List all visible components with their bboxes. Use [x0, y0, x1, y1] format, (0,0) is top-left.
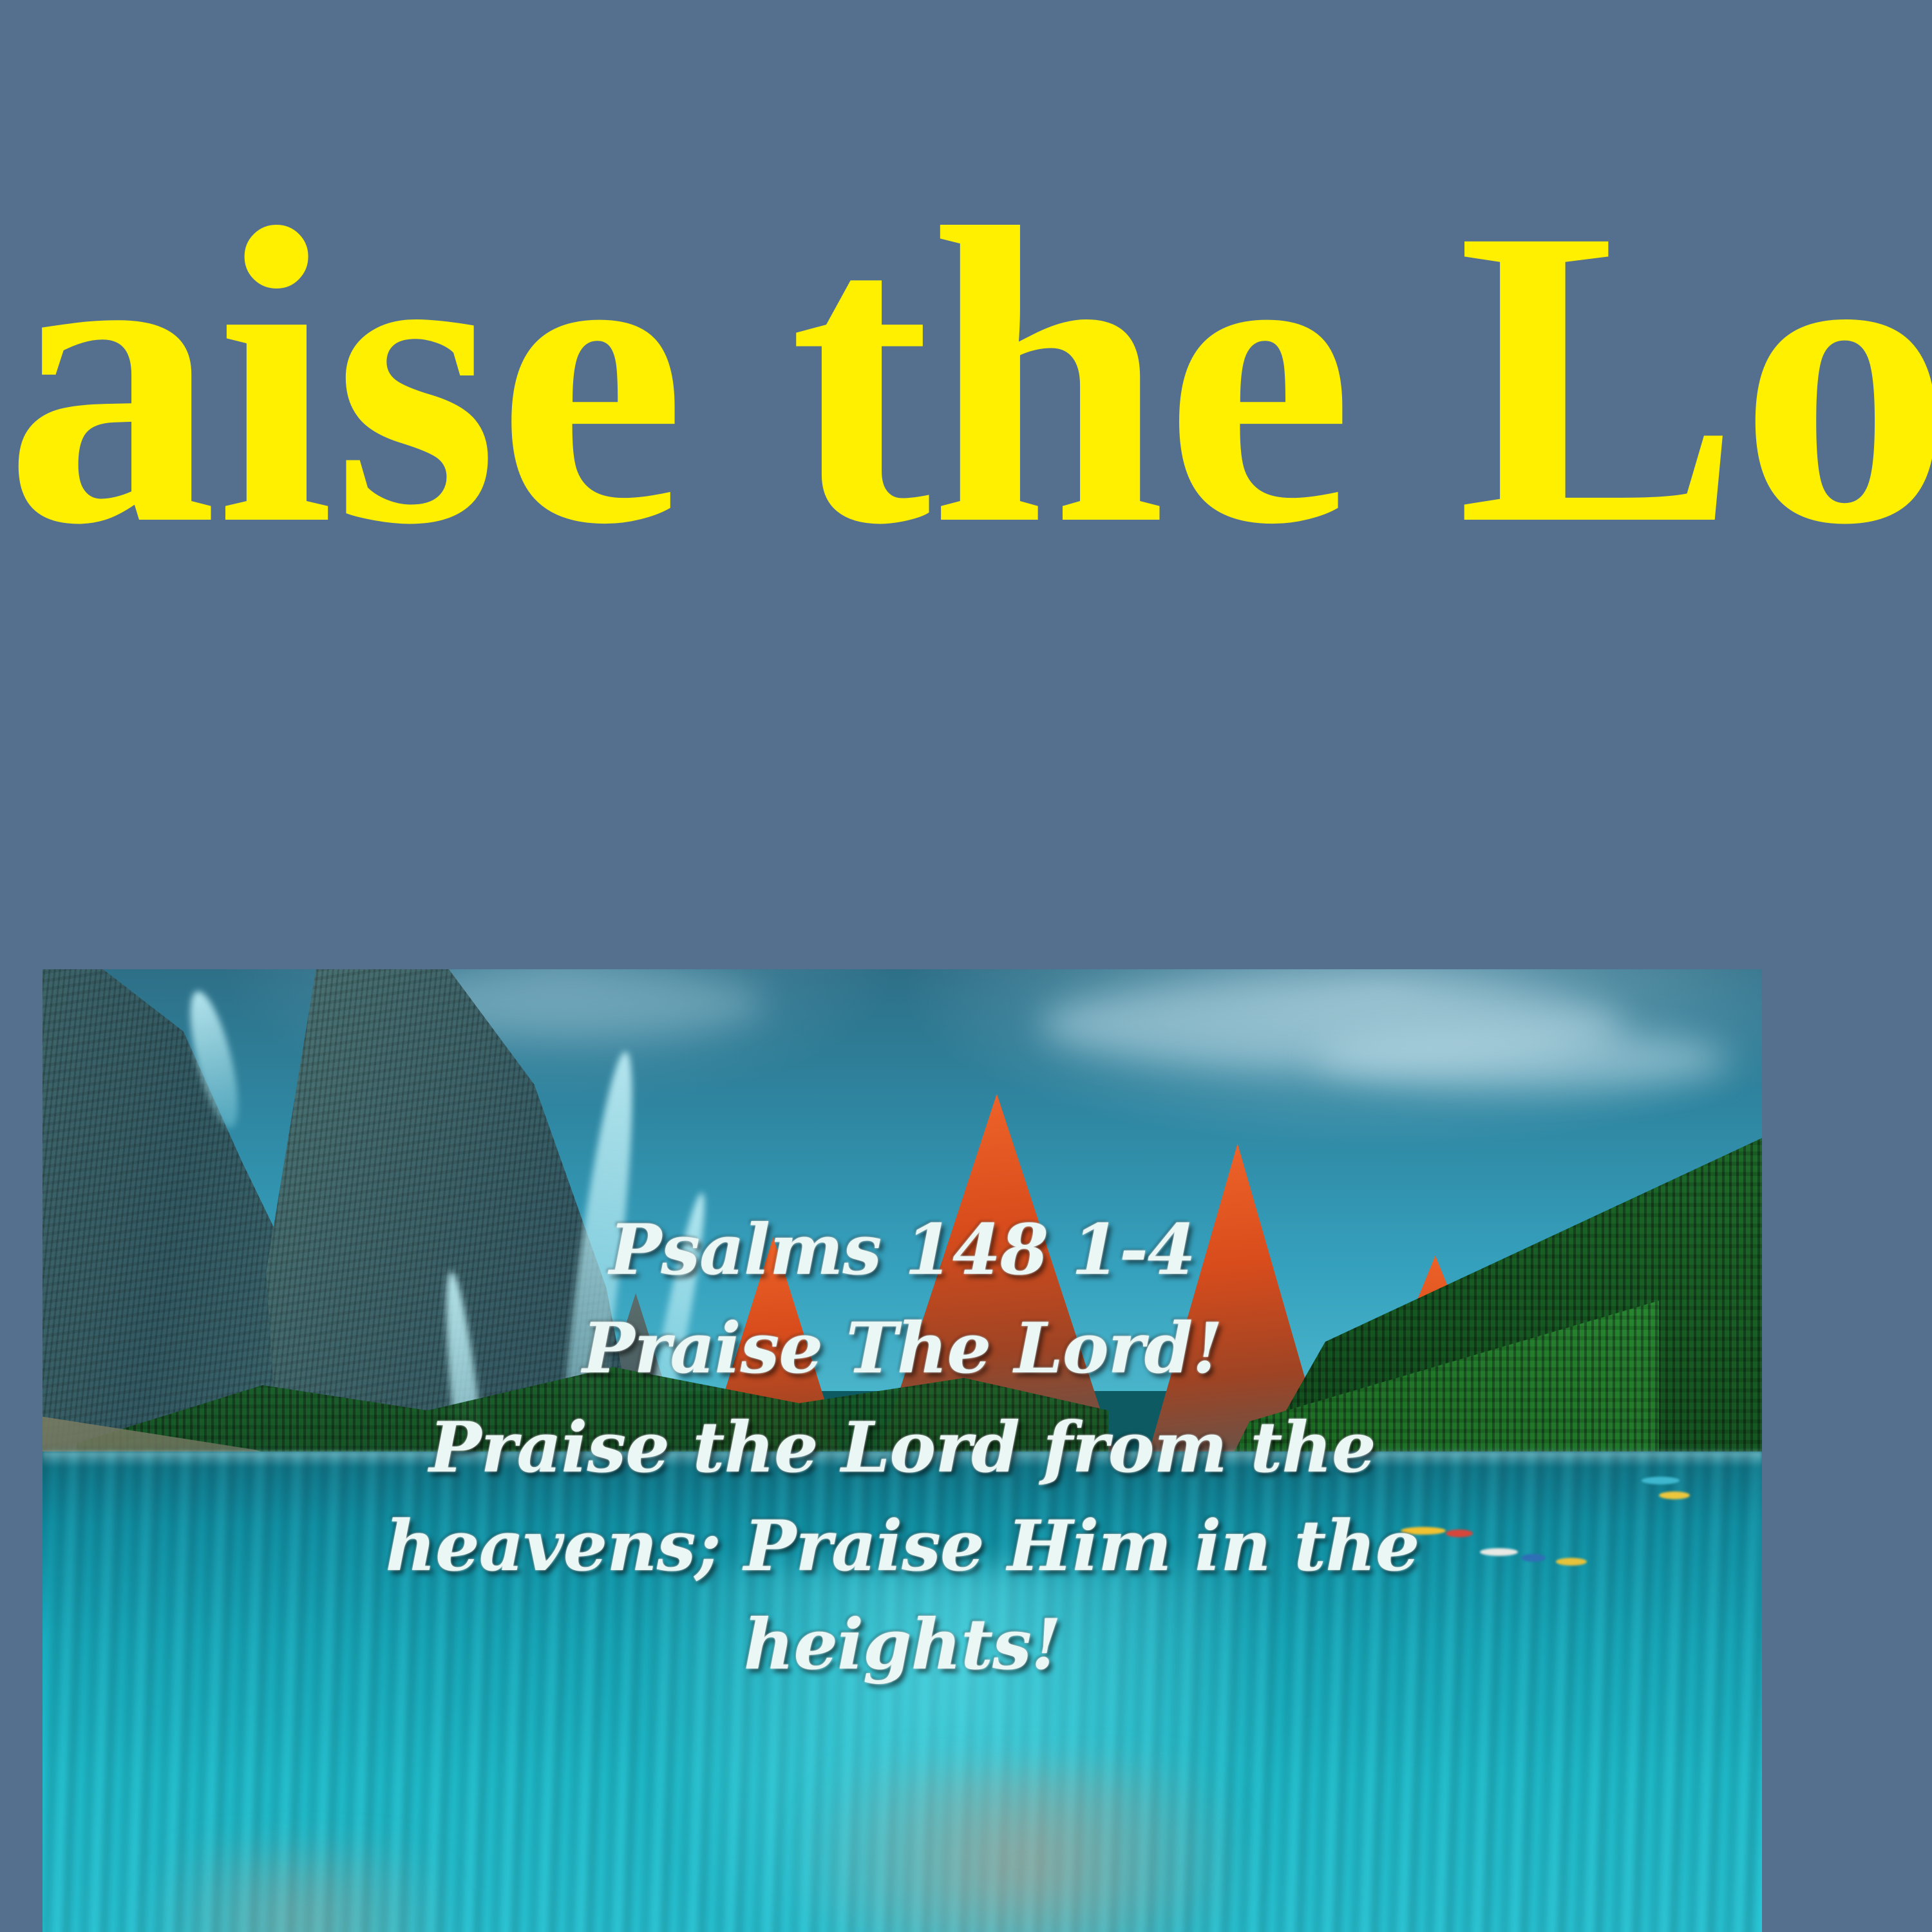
page-title: Praise the Lord	[0, 164, 1932, 589]
water-alpenglow-reflection	[799, 1765, 1246, 1932]
moraine-lake-scene: Psalms 148 1-4 Praise The Lord! Praise t…	[43, 969, 1762, 1932]
verse-line-4: heavens; Praise Him in the	[236, 1497, 1569, 1596]
water-alpenglow-reflection	[146, 1848, 455, 1932]
slide-title-band: Praise the Lord	[0, 0, 1932, 644]
verse-line-5: heights!	[236, 1596, 1569, 1694]
scripture-image[interactable]: Psalms 148 1-4 Praise The Lord! Praise t…	[43, 969, 1762, 1932]
verse-reference: Psalms 148 1-4	[236, 1201, 1569, 1300]
presentation-slide: Praise the Lord	[0, 0, 1932, 1932]
verse-line-2: Praise The Lord!	[236, 1300, 1569, 1398]
scripture-overlay-text: Psalms 148 1-4 Praise The Lord! Praise t…	[43, 1201, 1762, 1695]
verse-line-3: Praise the Lord from the	[236, 1399, 1569, 1497]
